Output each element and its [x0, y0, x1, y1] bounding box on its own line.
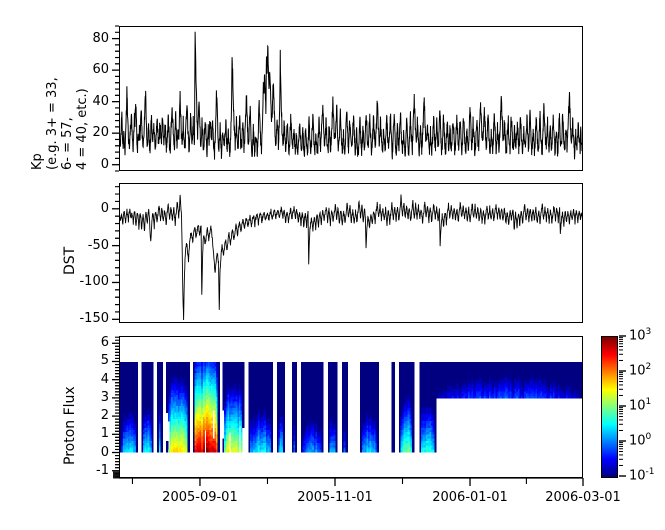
y-tick-label: -1 — [96, 463, 109, 478]
proton-flux-axis-title: Proton Flux — [62, 386, 78, 465]
y-tick-label: 0 — [101, 157, 109, 172]
colorbar-tick-label: 10-1 — [629, 467, 655, 483]
x-tick-label: 2005-09-01 — [154, 490, 246, 505]
dst-panel — [119, 183, 583, 323]
y-tick-label: 4 — [101, 372, 109, 387]
x-tick-label: 2005-11-01 — [289, 490, 381, 505]
colorbar-tick-label: 103 — [629, 327, 651, 343]
kp-panel — [119, 26, 583, 171]
y-tick-label: 0 — [101, 445, 109, 460]
y-tick-label: -50 — [88, 238, 109, 253]
y-tick-label: 5 — [101, 353, 109, 368]
y-tick-label: 3 — [101, 390, 109, 405]
proton-flux-panel — [119, 336, 583, 478]
y-tick-label: 2 — [101, 408, 109, 423]
dst-trace — [120, 184, 582, 322]
colorbar-tick-label: 102 — [629, 362, 651, 378]
x-tick-label: 2006-01-01 — [424, 490, 516, 505]
y-tick-label: -150 — [79, 311, 109, 326]
proton-flux-spectrogram — [120, 337, 582, 477]
y-tick-label: 6 — [101, 335, 109, 350]
x-tick-label: 2006-03-01 — [537, 490, 629, 505]
kp-axis-title: Kp (e.g. 3+ = 33, 6- = 57, 4 = 40, etc.) — [30, 77, 90, 170]
colorbar-tick-label: 101 — [629, 397, 651, 413]
y-tick-label: 0 — [101, 201, 109, 216]
colorbar — [601, 336, 618, 478]
kp-trace — [120, 27, 582, 170]
y-tick-label: 20 — [92, 125, 109, 140]
y-tick-label: 60 — [92, 62, 109, 77]
dst-axis-title: DST — [62, 247, 78, 275]
y-tick-label: 1 — [101, 426, 109, 441]
y-tick-label: -100 — [79, 274, 109, 289]
figure-canvas: 020406080 Kp (e.g. 3+ = 33, 6- = 57, 4 =… — [0, 0, 665, 523]
colorbar-gradient — [602, 337, 617, 477]
y-tick-label: 40 — [92, 94, 109, 109]
colorbar-tick-label: 100 — [629, 432, 651, 448]
y-tick-label: 80 — [92, 31, 109, 46]
